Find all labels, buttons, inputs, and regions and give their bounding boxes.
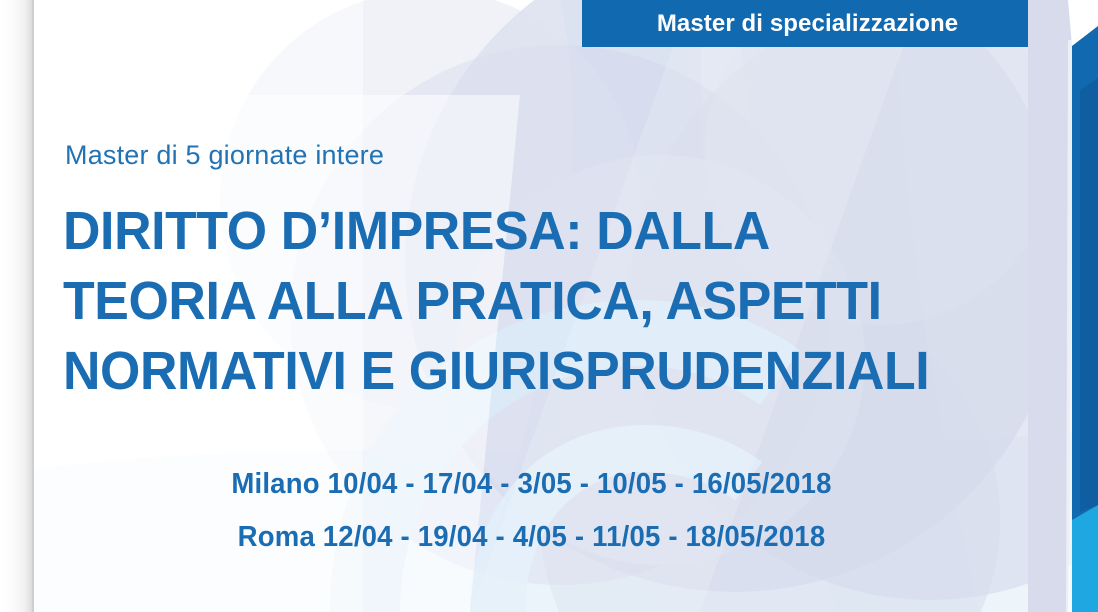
session-dates-milano: Milano 10/04 - 17/04 - 3/05 - 10/05 - 16… bbox=[27, 458, 1037, 511]
right-ribbon-svg bbox=[1028, 0, 1098, 612]
page-title-line-2: TEORIA ALLA PRATICA, ASPETTI bbox=[63, 266, 1004, 336]
master-type-badge: Master di specializzazione bbox=[582, 0, 1033, 47]
right-edge-ribbon bbox=[1028, 0, 1098, 612]
ribbon-blue-shade bbox=[1080, 78, 1098, 512]
ribbon-cyan-band bbox=[1072, 505, 1098, 612]
course-duration-kicker: Master di 5 giornate intere bbox=[65, 140, 384, 171]
poster-content: Master di 5 giornate intere DIRITTO D’IM… bbox=[0, 0, 1098, 612]
session-dates-roma: Roma 12/04 - 19/04 - 4/05 - 11/05 - 18/0… bbox=[27, 511, 1037, 564]
poster-canvas: Master di specializzazione Master di 5 g… bbox=[0, 0, 1098, 612]
master-type-badge-label: Master di specializzazione bbox=[657, 10, 958, 38]
session-dates-list: Milano 10/04 - 17/04 - 3/05 - 10/05 - 16… bbox=[0, 458, 1063, 564]
page-title: DIRITTO D’IMPRESA: DALLA TEORIA ALLA PRA… bbox=[63, 196, 1004, 406]
page-left-edge bbox=[0, 0, 33, 612]
page-left-edge-line bbox=[32, 0, 34, 612]
page-title-line-3: NORMATIVI E GIURISPRUDENZIALI bbox=[63, 336, 1004, 406]
page-title-line-1: DIRITTO D’IMPRESA: DALLA bbox=[63, 196, 1004, 266]
